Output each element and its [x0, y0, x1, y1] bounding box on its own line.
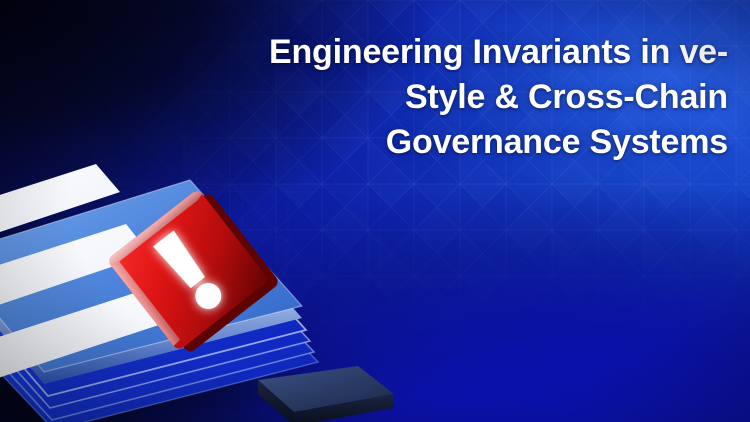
platform-slab	[258, 366, 394, 422]
title-line-1: Engineering Invariants in ve-	[150, 30, 728, 75]
hero-illustration	[0, 130, 398, 422]
poster-canvas: Engineering Invariants in ve- Style & Cr…	[0, 0, 750, 422]
page-title: Engineering Invariants in ve- Style & Cr…	[150, 30, 728, 165]
title-line-2: Style & Cross-Chain	[150, 75, 728, 120]
title-line-3: Governance Systems	[150, 120, 728, 165]
